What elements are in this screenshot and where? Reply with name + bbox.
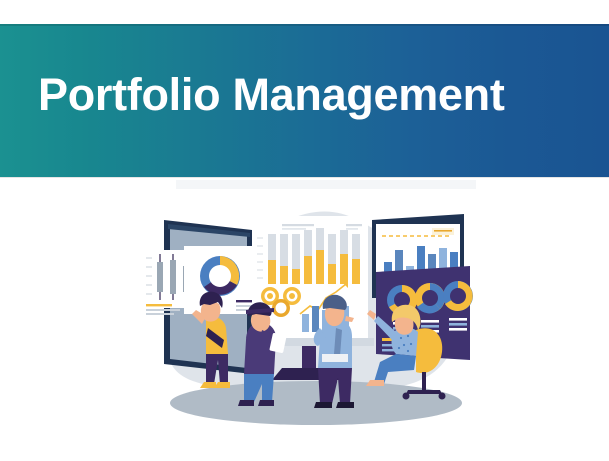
slide-canvas: Portfolio Management [0,0,609,461]
illustration-svg [140,188,480,438]
header-band: Portfolio Management [0,24,609,177]
business-analytics-illustration [140,188,480,438]
header-top-edge [0,24,609,26]
page-title: Portfolio Management [38,71,505,118]
